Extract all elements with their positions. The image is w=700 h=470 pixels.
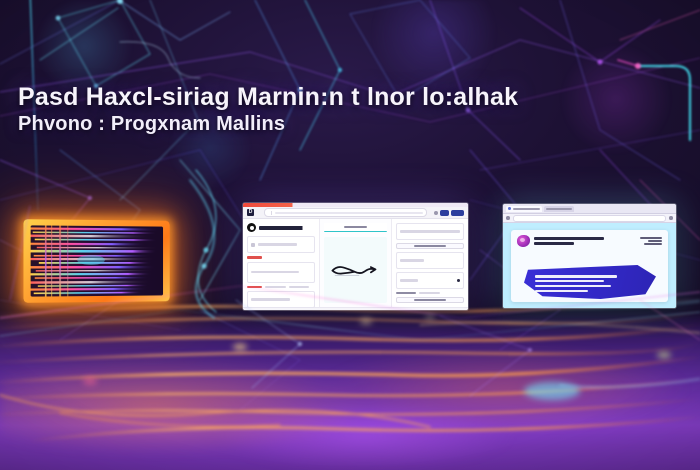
item-label — [251, 298, 290, 301]
list-item[interactable] — [247, 291, 315, 308]
right-browser-window[interactable] — [503, 204, 676, 308]
signature-canvas[interactable] — [324, 237, 386, 303]
note-line — [640, 237, 662, 239]
menu-icon[interactable] — [669, 216, 673, 220]
slide-side-note — [638, 237, 662, 246]
group-label-row — [247, 256, 315, 259]
heading-line — [534, 237, 604, 240]
tag-label — [265, 286, 286, 289]
app-column-middle — [320, 219, 391, 307]
center-browser-window[interactable]: D — [243, 203, 468, 310]
form-field[interactable] — [396, 223, 464, 240]
form-field[interactable] — [396, 252, 464, 269]
browser-chrome: D — [243, 207, 468, 219]
floor-light-streaks — [0, 295, 700, 470]
address-bar[interactable] — [264, 208, 427, 217]
page-title: Pasd Haxcl-siriag Marnin:n t lnor lo:alh… — [18, 84, 538, 110]
panel-screen-content — [31, 225, 163, 296]
heading-line — [534, 242, 574, 245]
item-icon — [251, 243, 255, 247]
group-label-accent — [247, 256, 262, 259]
list-item[interactable] — [247, 262, 315, 283]
field-label — [400, 279, 418, 282]
tab-label — [344, 226, 366, 229]
window-control-dot[interactable] — [434, 211, 438, 215]
app-section-header — [247, 223, 315, 232]
tab-favicon-icon — [508, 207, 511, 210]
button-label — [414, 299, 446, 301]
browser-toolbar — [503, 214, 676, 223]
section-heading — [259, 226, 315, 230]
field-value — [400, 230, 460, 233]
hero-graphic-stage: Pasd Haxcl-siriag Marnin:n t lnor lo:alh… — [0, 0, 700, 470]
browser-tab-inactive[interactable] — [544, 206, 574, 212]
primary-button[interactable] — [396, 297, 464, 303]
back-arrow-icon[interactable] — [506, 216, 510, 220]
nav-pill-secondary[interactable] — [451, 210, 464, 216]
address-bar-url-line — [275, 212, 423, 214]
app-column-right — [392, 219, 468, 307]
graphic-text-line — [535, 285, 611, 287]
field-label — [400, 259, 424, 262]
secondary-button[interactable] — [396, 243, 464, 249]
graphic-text-line — [535, 275, 617, 277]
list-item[interactable] — [247, 236, 315, 253]
button-label — [414, 245, 446, 247]
tab-title — [513, 208, 540, 210]
title-block: Pasd Haxcl-siriag Marnin:n t lnor lo:alh… — [18, 84, 538, 135]
note-line — [648, 240, 662, 242]
glowing-display-panel[interactable] — [23, 219, 169, 303]
tab-title — [546, 208, 572, 210]
app-logo-icon: D — [247, 209, 254, 216]
nav-pill-primary[interactable] — [440, 210, 449, 216]
app-column-left — [243, 219, 320, 307]
graphic-text-line — [535, 290, 588, 292]
address-bar-divider — [271, 211, 272, 215]
item-label — [251, 271, 299, 274]
slide-graphic-text — [535, 275, 621, 292]
tag-row — [247, 286, 315, 289]
browser-tab-bar — [503, 204, 676, 214]
presentation-slide-card — [511, 230, 668, 302]
target-icon — [247, 223, 256, 232]
tab-active[interactable] — [324, 223, 386, 232]
page-subtitle: Phvono : Progxnam Mallins — [18, 114, 538, 135]
brand-logo-icon — [517, 235, 530, 247]
tag-label — [289, 286, 310, 289]
slide-heading — [534, 237, 634, 245]
note-line — [644, 243, 662, 245]
address-bar[interactable] — [513, 215, 667, 222]
item-label — [258, 243, 297, 246]
tag-accent — [247, 286, 262, 289]
browser-tab-active[interactable] — [506, 206, 542, 212]
option-label — [396, 292, 417, 295]
app-body — [243, 219, 468, 307]
browser-nav-buttons[interactable] — [434, 210, 464, 216]
page-viewport — [503, 223, 676, 308]
form-field-with-toggle[interactable] — [396, 272, 464, 289]
slide-header — [517, 235, 662, 247]
option-label — [419, 292, 440, 295]
option-row — [396, 292, 464, 295]
toggle-indicator-icon[interactable] — [457, 279, 460, 282]
graphic-text-line — [535, 280, 604, 282]
